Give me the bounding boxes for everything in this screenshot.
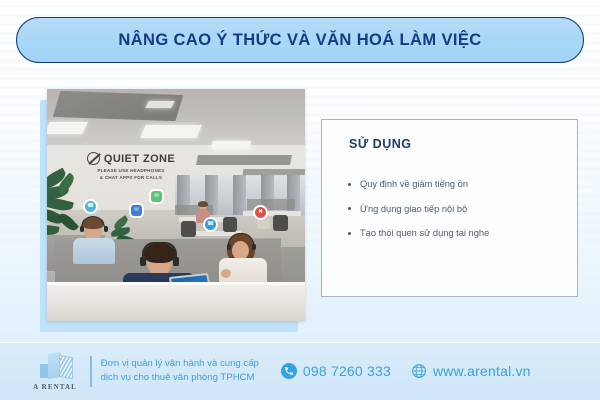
ceiling-beam-1: [196, 155, 292, 165]
employee-left-with-headset: [71, 213, 117, 263]
office-quiet-zone-photo: QUIET ZONE PLEASE USE HEADPHONES & CHAT …: [47, 89, 305, 321]
slide-canvas: NÂNG CAO Ý THỨC VÀ VĂN HOÁ LÀM VIỆC: [0, 0, 600, 400]
list-item: Tạo thói quen sử dụng tai nghe: [346, 227, 563, 239]
background-chair: [273, 215, 288, 231]
quiet-zone-title: QUIET ZONE: [104, 153, 175, 165]
phone-contact[interactable]: 098 7260 333: [281, 363, 391, 379]
arental-logo: A RENTAL: [24, 351, 86, 391]
website-contact[interactable]: www.arental.vn: [411, 363, 531, 379]
window-blind: [233, 175, 246, 215]
chat-badge-3: ✉: [131, 205, 142, 216]
content-panel: SỬ DỤNG Quy định về giảm tiếng ồn Ứng dụ…: [321, 119, 578, 297]
globe-icon: [411, 363, 427, 379]
footer-vertical-divider: [90, 356, 92, 387]
quiet-zone-subtitle: PLEASE USE HEADPHONES & CHAT APPS FOR CA…: [75, 168, 187, 182]
bullet-list: Quy định về giảm tiếng ồn Ứng dụng giao …: [346, 178, 563, 252]
chat-badge-5: ✖: [255, 207, 266, 218]
ceiling-light-3: [211, 141, 251, 149]
slide-title-banner: NÂNG CAO Ý THỨC VÀ VĂN HOÁ LÀM VIỆC: [16, 17, 584, 63]
foreground-desk: [47, 285, 305, 321]
chat-badge-2: ✉: [151, 191, 162, 202]
list-item: Ứng dụng giao tiếp nội bộ: [346, 203, 563, 215]
ceiling-light-4: [145, 101, 175, 108]
footer-bar: A RENTAL Đơn vị quản lý vận hành và cung…: [0, 342, 600, 400]
footer-divider: [0, 342, 600, 343]
phone-number: 098 7260 333: [303, 363, 391, 379]
chat-badge-4: ☎: [205, 219, 216, 230]
page-title: NÂNG CAO Ý THỨC VÀ VĂN HOÁ LÀM VIỆC: [118, 31, 481, 50]
photo-scene: QUIET ZONE PLEASE USE HEADPHONES & CHAT …: [47, 89, 305, 321]
panel-heading: SỬ DỤNG: [349, 137, 411, 151]
ceiling-light-2: [140, 125, 201, 138]
footer-tagline: Đơn vị quản lý vận hành và cung cấp dịch…: [101, 357, 259, 386]
chat-badge-1: ☎: [85, 201, 96, 212]
website-url: www.arental.vn: [433, 363, 531, 379]
building-tower-right: [59, 355, 73, 379]
tagline-line-1: Đơn vị quản lý vận hành và cung cấp: [101, 357, 259, 371]
quiet-zone-sign: QUIET ZONE PLEASE USE HEADPHONES & CHAT …: [75, 152, 187, 182]
background-chair: [181, 221, 196, 237]
list-item: Quy định về giảm tiếng ồn: [346, 178, 563, 190]
no-phone-icon: [87, 152, 100, 165]
phone-icon: [281, 363, 297, 379]
tagline-line-2: dịch vụ cho thuê văn phòng TPHCM: [101, 371, 259, 385]
logo-wordmark: A RENTAL: [24, 383, 86, 391]
building-icon: [32, 351, 76, 378]
ceiling-light-1: [47, 122, 88, 134]
